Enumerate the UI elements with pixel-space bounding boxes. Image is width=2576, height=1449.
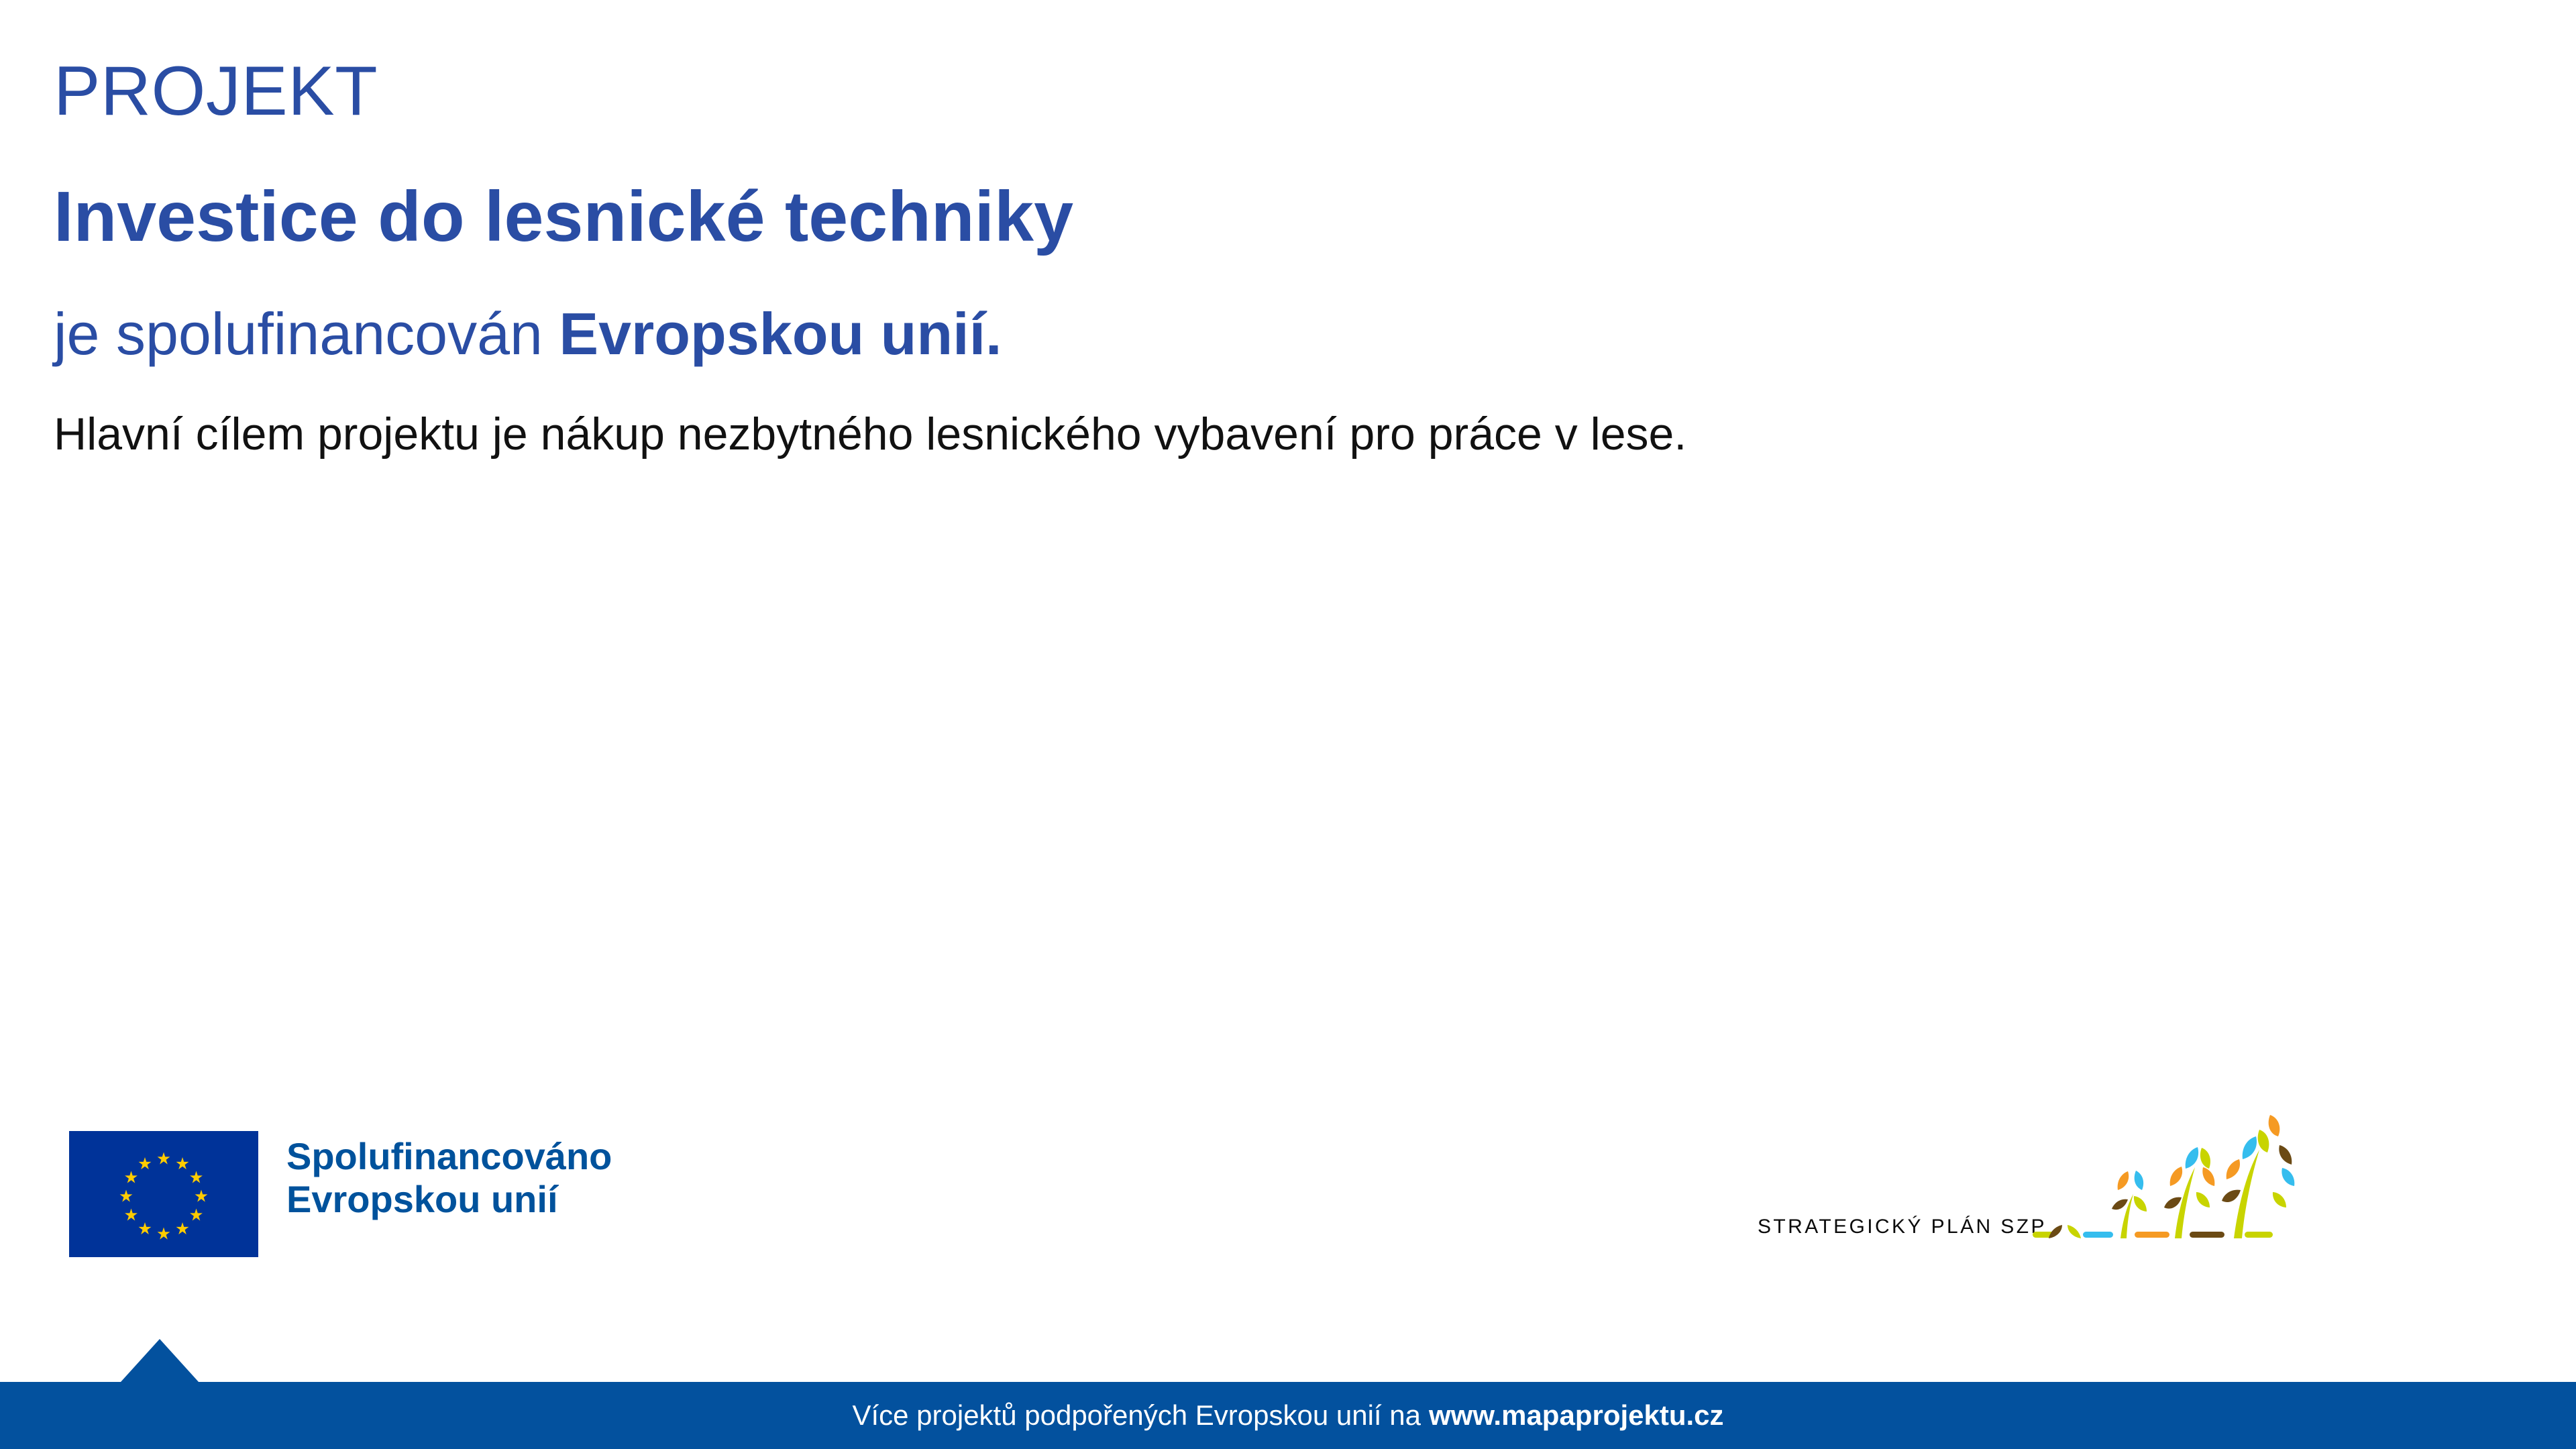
european-union-flag-icon [69, 1131, 258, 1257]
cofinancing-subline: je spolufinancován Evropskou unií. [54, 296, 2442, 372]
footer-project-map-url[interactable]: www.mapaprojektu.cz [1429, 1401, 1724, 1430]
project-headline: Investice do lesnické techniky [54, 171, 2442, 264]
cofinancing-subline-regular: je spolufinancován [54, 301, 559, 367]
eu-caption: Spolufinancováno Evropskou unií [286, 1131, 612, 1221]
footer-bar: Více projektů podpořených Evropskou unií… [0, 1382, 2576, 1449]
szp-strategic-plan-logo: STRATEGICKÝ PLÁN SZP [1758, 1107, 2334, 1268]
growing-plants-icon [2033, 1107, 2334, 1254]
slide-canvas: PROJEKT Investice do lesnické techniky j… [0, 0, 2576, 1449]
eu-cofinancing-logo: Spolufinancováno Evropskou unií [69, 1131, 612, 1257]
text-block: PROJEKT Investice do lesnické techniky j… [54, 47, 2442, 465]
footer-text-prefix: Více projektů podpořených Evropskou unií… [852, 1401, 1421, 1430]
footer-text: Více projektů podpořených Evropskou unií… [0, 1382, 2576, 1449]
kicker-label: PROJEKT [54, 47, 2442, 136]
cofinancing-subline-bold: Evropskou unií. [559, 301, 1002, 367]
project-description: Hlavní cílem projektu je nákup nezbytnéh… [54, 405, 2442, 465]
eu-caption-line-2: Evropskou unií [286, 1178, 612, 1221]
footer-peak-marker [121, 1339, 199, 1382]
eu-caption-line-1: Spolufinancováno [286, 1135, 612, 1178]
szp-label: STRATEGICKÝ PLÁN SZP [1758, 1216, 2047, 1238]
